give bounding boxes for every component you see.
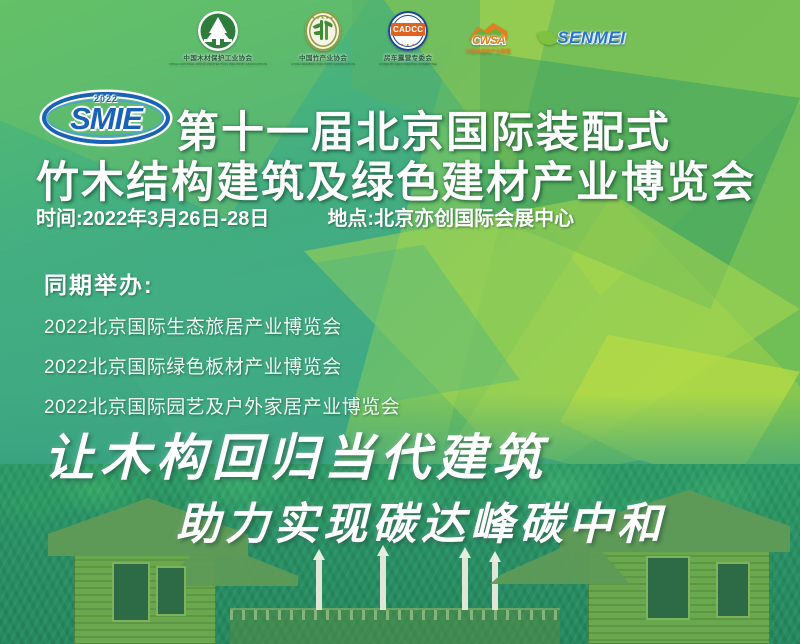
association-logo-strip: 中国木材保护工业协会 CHINA NATIONAL WOOD PROTECTIO…: [0, 0, 800, 76]
tree-arm-left-icon: [204, 39, 212, 42]
cadcc-arc-text: · · · · · · · ·: [388, 14, 428, 18]
senmei-wordmark: SENMEI: [539, 24, 631, 52]
logo-label-cn: 中国竹产业协会: [299, 52, 347, 62]
logo-cwsa: CWSA 中国木结构产业联盟: [461, 21, 515, 55]
concurrent-title: 同期举办:: [44, 266, 400, 300]
tree-arm-right-icon: [224, 39, 232, 42]
logo-cadcc: · · · · · · · · CADCC ● ● ● 房车露营专委会 CHIN…: [379, 11, 437, 66]
event-meta: 时间:2022年3月26日-28日 地点:北京亦创国际会展中心: [36, 202, 574, 231]
cadcc-dots: ● ● ●: [388, 42, 428, 47]
logo-bamboo-association: ★★★★★ 中国竹产业协会 CHINA BAMBOO INDUSTRY ASSO…: [291, 11, 355, 66]
event-venue: 地点:北京亦创国际会展中心: [327, 202, 574, 231]
logo-acronym: CADCC: [388, 25, 428, 34]
stars-icon: ★★★★★: [305, 15, 341, 20]
logo-label-en: CHINA BAMBOO INDUSTRY ASSOCIATION: [291, 62, 355, 66]
logo-label-cn: 房车露营专委会: [384, 52, 432, 62]
smie-badge: 2022 SMIE: [42, 92, 170, 144]
concurrent-event-item: 2022北京国际绿色板材产业博览会: [44, 352, 400, 379]
bamboo-roundel-icon: ★★★★★: [305, 11, 341, 51]
exhibition-poster: 中国木材保护工业协会 CHINA NATIONAL WOOD PROTECTIO…: [0, 0, 800, 644]
smie-acronym: SMIE: [42, 103, 170, 134]
cadcc-roundel-icon: · · · · · · · · CADCC ● ● ●: [388, 11, 428, 51]
cabin-window: [716, 562, 750, 618]
cabin-window: [112, 562, 150, 622]
logo-label-cn: 中国木材保护工业协会: [183, 52, 252, 62]
cabin-window: [156, 566, 186, 616]
tree-trunk-icon: [216, 34, 220, 45]
logo-label-cn: 中国木结构产业联盟: [461, 48, 515, 55]
slogan-line-2: 助力实现碳达峰碳中和: [176, 488, 666, 552]
concurrent-event-item: 2022北京国际园艺及户外家居产业博览会: [44, 392, 400, 419]
logo-cnwpia: 中国木材保护工业协会 CHINA NATIONAL WOOD PROTECTIO…: [169, 11, 267, 66]
umbrella-icon: [462, 556, 468, 610]
cabin-window: [646, 556, 690, 620]
event-date: 时间:2022年3月26日-28日: [36, 202, 269, 231]
logo-label-en: CHINA NATIONAL WOOD PROTECTION INDUSTRY …: [169, 62, 267, 66]
headline-line-2: 竹木结构建筑及绿色建材产业博览会: [36, 148, 756, 210]
umbrella-icon: [380, 554, 386, 610]
umbrella-icon: [316, 558, 322, 610]
logo-label-en: CHINA RV AND CAMPING COMMITTEE: [379, 62, 437, 66]
house-icon: CWSA 中国木结构产业联盟: [461, 21, 515, 55]
slogan-line-1: 让木构回归当代建筑: [44, 418, 548, 490]
logo-senmei: SENMEI: [539, 24, 631, 52]
tree-roundel-icon: [198, 11, 238, 51]
logo-acronym: SENMEI: [557, 28, 625, 48]
leaf-icon: [537, 28, 558, 49]
concurrent-events: 同期举办: 2022北京国际生态旅居产业博览会 2022北京国际绿色板材产业博览…: [44, 266, 400, 432]
logo-acronym: CWSA: [461, 33, 515, 47]
concurrent-event-item: 2022北京国际生态旅居产业博览会: [44, 312, 400, 339]
